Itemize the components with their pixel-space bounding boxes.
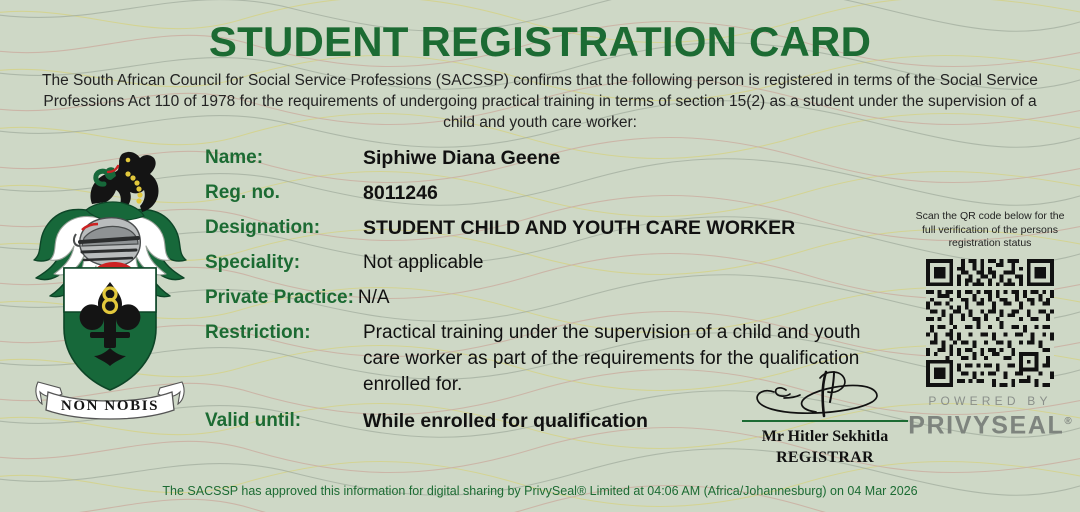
registration-number-label: Reg. no. [205, 180, 363, 206]
valid-until-label: Valid until: [205, 408, 363, 434]
sacssp-coat-of-arms: NON NOBIS [22, 142, 198, 427]
field-row-speciality: Speciality: Not applicable [205, 250, 905, 276]
registration-number-value: 8011246 [363, 180, 438, 206]
designation-label: Designation: [205, 215, 363, 241]
page-title: STUDENT REGISTRATION CARD [0, 18, 1080, 66]
emblem-motto: NON NOBIS [61, 398, 159, 414]
valid-until-value: While enrolled for qualification [363, 408, 648, 434]
designation-value: STUDENT CHILD AND YOUTH CARE WORKER [363, 215, 795, 241]
powered-by-label: POWERED BY [900, 394, 1080, 408]
name-label: Name: [205, 145, 363, 171]
speciality-value: Not applicable [363, 250, 483, 276]
name-value: Siphiwe Diana Geene [363, 145, 560, 171]
handwritten-signature [730, 368, 920, 420]
speciality-label: Speciality: [205, 250, 363, 276]
qr-instruction-text: Scan the QR code below for the full veri… [910, 210, 1070, 251]
footer-note: The SACSSP has approved this information… [0, 484, 1080, 498]
field-row-private-practice: Private Practice: N/A [205, 285, 905, 311]
field-row-designation: Designation: STUDENT CHILD AND YOUTH CAR… [205, 215, 905, 241]
restriction-label: Restriction: [205, 320, 363, 346]
privyseal-logo: PRIVYSEAL® [908, 408, 1071, 439]
registrar-role: REGISTRAR [700, 447, 950, 468]
verification-block: Scan the QR code below for the full veri… [900, 210, 1080, 439]
field-row-registration-number: Reg. no. 8011246 [205, 180, 905, 206]
signature-rule [742, 420, 908, 422]
privyseal-wordmark: PRIVYSEAL [908, 411, 1064, 439]
intro-paragraph: The South African Council for Social Ser… [30, 70, 1050, 133]
field-row-name: Name: Siphiwe Diana Geene [205, 145, 905, 171]
registered-trademark-icon: ® [1064, 416, 1071, 427]
private-practice-value: N/A [358, 285, 390, 311]
qr-code[interactable] [926, 259, 1054, 387]
private-practice-label: Private Practice: [205, 285, 358, 311]
registration-card: STUDENT REGISTRATION CARD The South Afri… [0, 0, 1080, 512]
